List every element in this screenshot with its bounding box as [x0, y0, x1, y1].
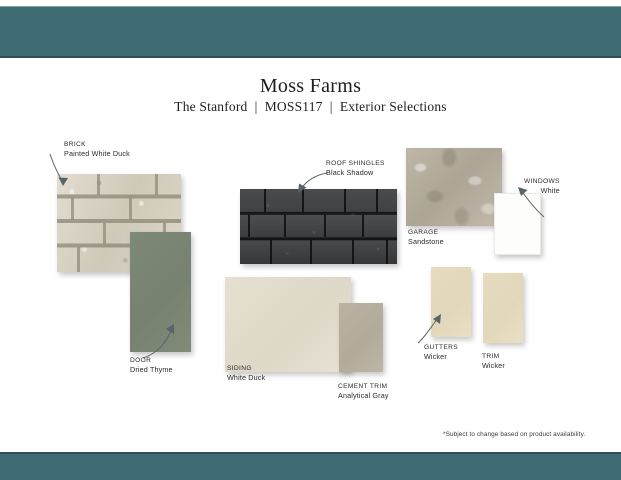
callout-gutters-category: GUTTERS	[424, 344, 458, 352]
swatch-roof-shingles[interactable]	[240, 189, 397, 264]
callout-gutters: GUTTERS Wicker	[424, 344, 458, 361]
callout-windows: WINDOWS White	[524, 178, 560, 195]
callout-siding-value: White Duck	[227, 373, 265, 382]
callout-trim-value: Wicker	[482, 361, 505, 370]
title-block: Moss Farms The Stanford | MOSS117 | Exte…	[0, 76, 621, 115]
header-color-band	[0, 6, 621, 58]
swatch-trim[interactable]	[483, 273, 523, 343]
callout-gutters-value: Wicker	[424, 352, 458, 361]
page-subtitle: The Stanford | MOSS117 | Exterior Select…	[0, 99, 621, 115]
callout-brick-category: BRICK	[64, 141, 130, 149]
callout-trim-category: TRIM	[482, 353, 505, 361]
callout-brick: BRICK Painted White Duck	[64, 141, 130, 158]
footnote-disclaimer: *Subject to change based on product avai…	[443, 431, 585, 438]
callout-windows-category: WINDOWS	[524, 178, 560, 186]
swatch-siding[interactable]	[225, 277, 351, 372]
callout-cement-trim: CEMENT TRIM Analytical Gray	[338, 383, 389, 400]
page-title: Moss Farms	[0, 76, 621, 97]
callout-roof-shingles-category: ROOF SHINGLES	[326, 160, 385, 168]
callout-roof-shingles-value: Black Shadow	[326, 168, 385, 177]
swatch-garage[interactable]	[406, 148, 502, 226]
swatch-door[interactable]	[130, 232, 191, 352]
swatch-cement-trim[interactable]	[339, 303, 383, 372]
callout-windows-value: White	[524, 186, 560, 195]
callout-trim: TRIM Wicker	[482, 353, 505, 370]
callout-roof-shingles: ROOF SHINGLES Black Shadow	[326, 160, 385, 177]
callout-garage: GARAGE Sandstone	[408, 229, 444, 246]
callout-door: DOOR Dried Thyme	[130, 357, 173, 374]
swatch-windows[interactable]	[494, 193, 541, 255]
callout-cement-trim-value: Analytical Gray	[338, 391, 389, 400]
callout-garage-category: GARAGE	[408, 229, 444, 237]
callout-brick-value: Painted White Duck	[64, 149, 130, 158]
swatch-gutters[interactable]	[431, 267, 471, 337]
callout-cement-trim-category: CEMENT TRIM	[338, 383, 389, 391]
callout-door-category: DOOR	[130, 357, 173, 365]
callout-garage-value: Sandstone	[408, 237, 444, 246]
footer-color-band	[0, 452, 621, 480]
exterior-selections-board: Moss Farms The Stanford | MOSS117 | Exte…	[0, 0, 621, 480]
callout-siding-category: SIDING	[227, 365, 265, 373]
callout-door-value: Dried Thyme	[130, 365, 173, 374]
callout-siding: SIDING White Duck	[227, 365, 265, 382]
